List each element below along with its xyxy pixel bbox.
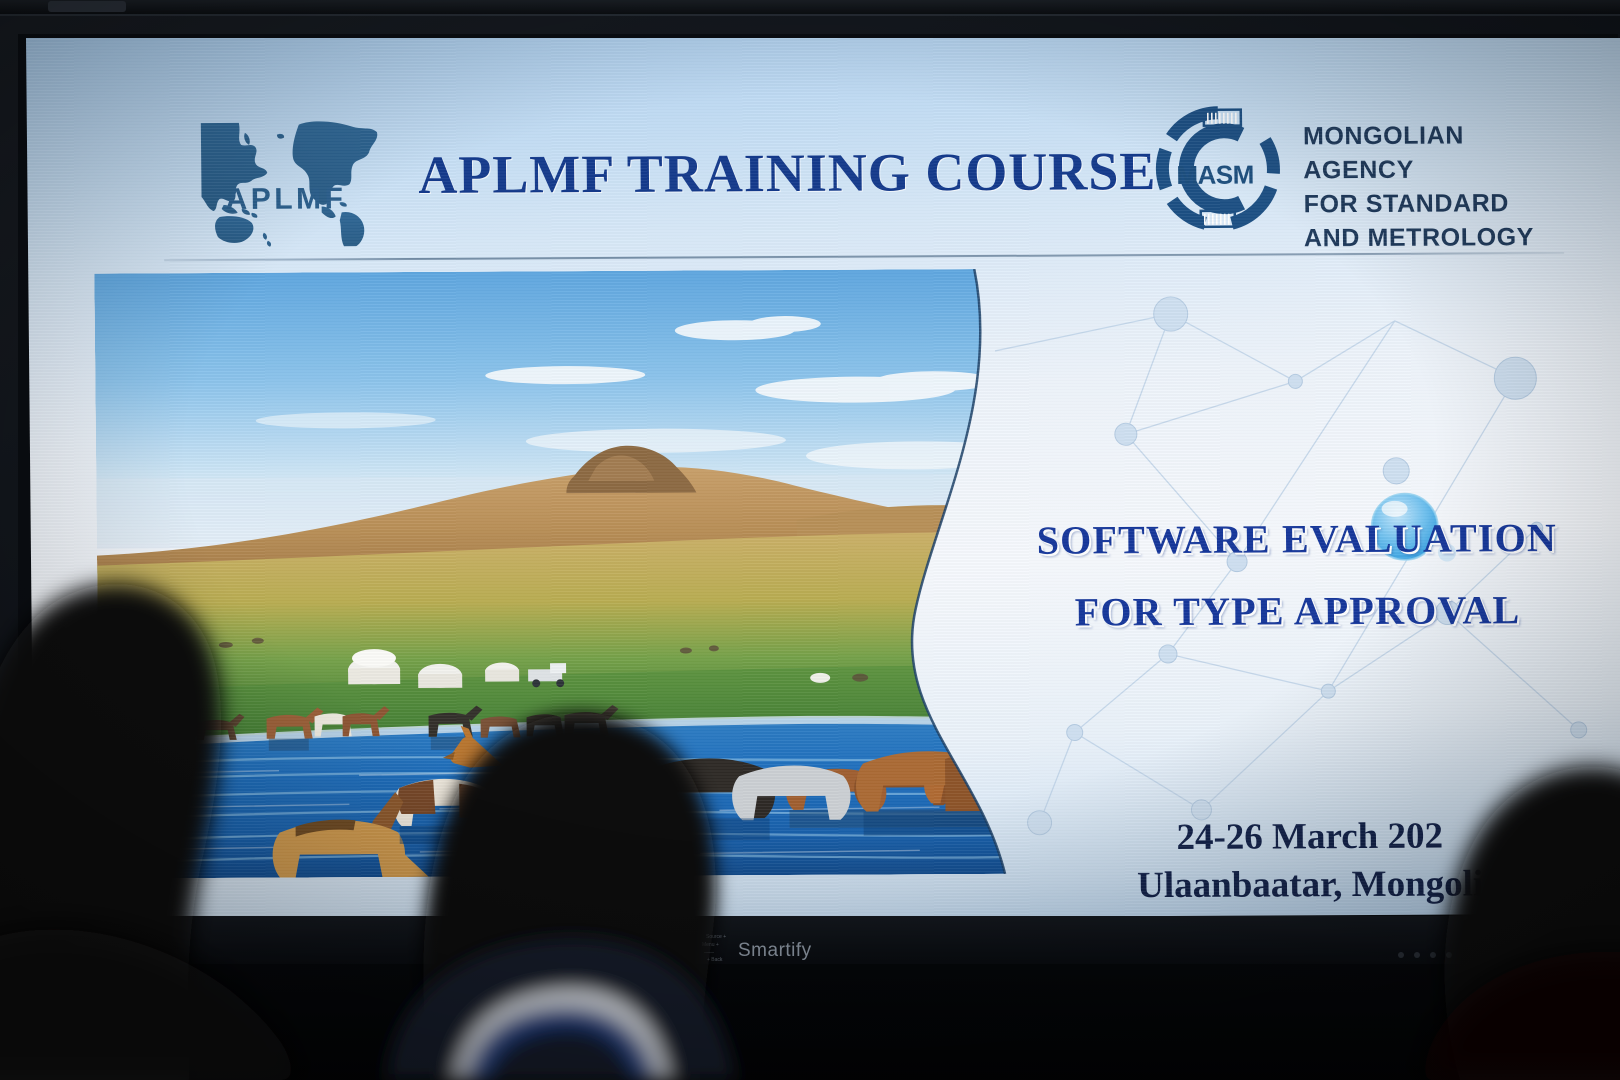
main-title-line-2: FOR TYPE APPROVAL — [997, 574, 1598, 649]
floor-area — [0, 964, 1620, 1080]
presentation-slide: APLMF APLMF TRAINING COURSE — [26, 38, 1620, 918]
tv-button-label-3[interactable]: —— — [704, 950, 714, 956]
header-divider — [164, 252, 1564, 261]
org-line-1: MONGOLIAN AGENCY — [1303, 118, 1564, 187]
mongolian-steppe-horses-photo — [94, 269, 1020, 879]
tv-button-label-2[interactable]: Menu + — [702, 942, 719, 948]
masm-wordmark: MASM — [1176, 160, 1254, 191]
slide-main-title: SOFTWARE EVALUATION FOR TYPE APPROVAL — [997, 502, 1598, 649]
wall-mount-label — [52, 2, 54, 8]
wall-above-tv — [0, 0, 1620, 14]
event-location: Ulaanbaatar, Mongoli — [1000, 860, 1620, 911]
aplmf-wordmark: APLMF — [225, 182, 346, 217]
org-line-2: FOR STANDARD — [1303, 186, 1563, 221]
event-dates: 24-26 March 202 — [1000, 812, 1620, 863]
event-details: 24-26 March 202 Ulaanbaatar, Mongoli — [1000, 812, 1620, 911]
tv-button-label-1[interactable]: Source + — [706, 934, 726, 940]
slide-content: APLMF APLMF TRAINING COURSE — [62, 70, 1600, 888]
ir-sensor-panel — [1398, 952, 1454, 959]
tv-brand-logo: Smartify — [738, 940, 812, 962]
slide-header: APLMF APLMF TRAINING COURSE — [163, 102, 1564, 249]
main-title-line-1: SOFTWARE EVALUATION — [997, 502, 1598, 577]
tv-control-buttons[interactable]: Source + Menu + —— + Back — [702, 934, 736, 962]
organization-name: MONGOLIAN AGENCY FOR STANDARD AND METROL… — [1303, 118, 1564, 255]
conference-room-scene: APLMF APLMF TRAINING COURSE — [0, 0, 1620, 1080]
org-line-3: AND METROLOGY — [1304, 220, 1564, 255]
page-title: APLMF TRAINING COURSE — [418, 140, 1109, 206]
tv-bezel: APLMF APLMF TRAINING COURSE — [0, 14, 1620, 964]
wall-mount-plate — [48, 1, 126, 12]
tv-button-label-4[interactable]: + Back — [707, 957, 722, 963]
tv-screen: APLMF APLMF TRAINING COURSE — [26, 38, 1620, 918]
